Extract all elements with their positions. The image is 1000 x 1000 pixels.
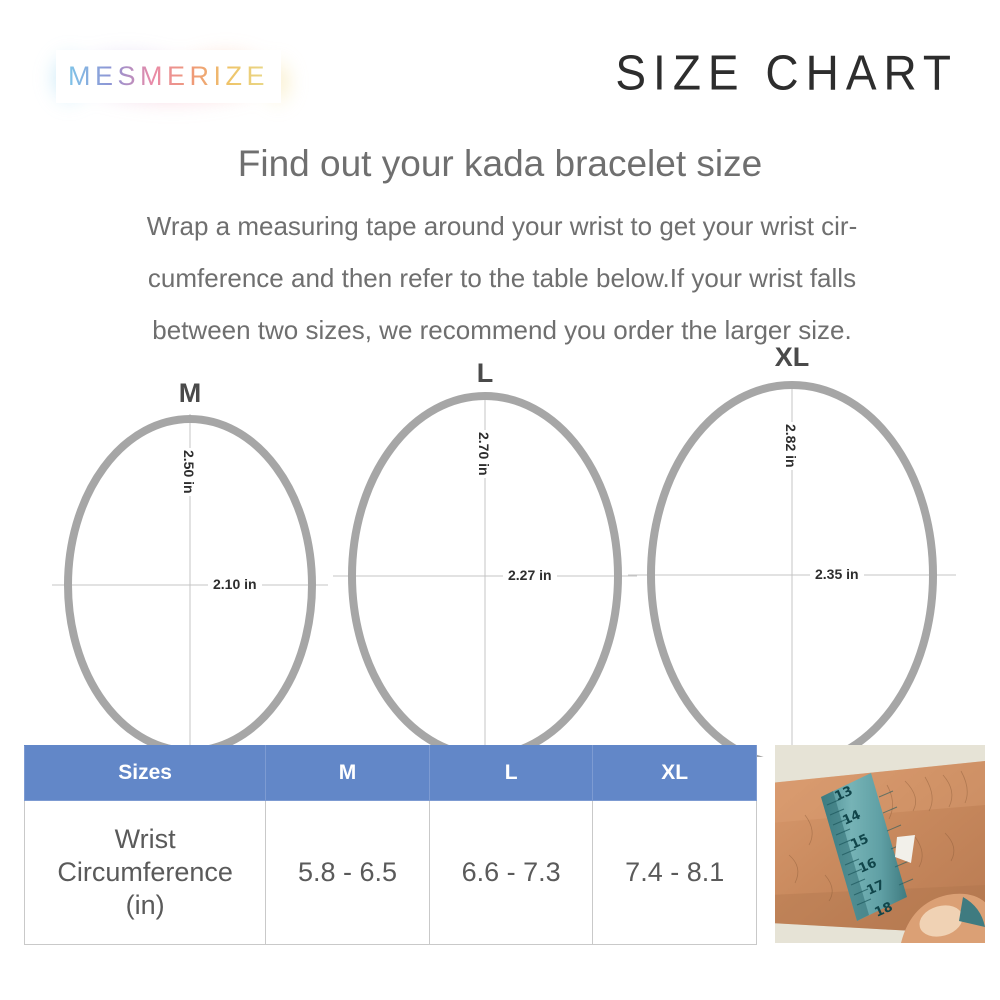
wrist-measurement-photo: 13 14 15 16 17 18 <box>775 745 985 943</box>
header-xl: XL <box>593 746 757 801</box>
diagram-m-height: 2.50 in <box>181 448 197 496</box>
diagram-m-width: 2.10 in <box>208 576 262 592</box>
diagram-l: L 2.70 in 2.27 in <box>325 358 645 753</box>
wrist-photo-illustration: 13 14 15 16 17 18 <box>775 745 985 943</box>
row-label-line-3: (in) <box>25 889 265 922</box>
logo-text: MESMERIZE <box>68 61 269 92</box>
size-table-body: Wrist Circumference (in) 5.8 - 6.5 6.6 -… <box>25 801 757 945</box>
diagram-l-width: 2.27 in <box>503 567 557 583</box>
logo-box: MESMERIZE <box>56 50 281 103</box>
intro-line-2: cumference and then refer to the table b… <box>50 252 954 304</box>
page-title: SIZE CHART <box>615 44 958 101</box>
section-headline: Find out your kada bracelet size <box>0 143 1000 185</box>
diagram-xl-width: 2.35 in <box>810 566 864 582</box>
cell-xl-value: 7.4 - 8.1 <box>593 801 757 945</box>
table-header-row: Sizes M L XL <box>25 746 757 801</box>
row-label-line-1: Wrist <box>25 823 265 856</box>
diagram-xl-height: 2.82 in <box>783 422 799 470</box>
oval-l-shape <box>325 358 645 753</box>
cell-l-value: 6.6 - 7.3 <box>429 801 593 945</box>
size-chart-page: MESMERIZE SIZE CHART Find out your kada … <box>0 0 1000 1000</box>
size-table-header: Sizes M L XL <box>25 746 757 801</box>
intro-paragraph: Wrap a measuring tape around your wrist … <box>50 200 954 356</box>
brand-logo: MESMERIZE <box>46 42 291 114</box>
diagram-l-height: 2.70 in <box>476 430 492 478</box>
diagram-m: M 2.50 in 2.10 in <box>40 378 340 748</box>
header-m: M <box>266 746 430 801</box>
intro-line-1: Wrap a measuring tape around your wrist … <box>50 200 954 252</box>
header-sizes: Sizes <box>25 746 266 801</box>
bracelet-diagrams: M 2.50 in 2.10 in L 2.70 in 2.27 in XL <box>0 350 1000 750</box>
row-label-wrist-circumference: Wrist Circumference (in) <box>25 801 266 945</box>
size-table: Sizes M L XL Wrist Circumference (in) 5.… <box>24 745 757 945</box>
oval-m-shape <box>40 378 340 748</box>
diagram-xl: XL 2.82 in 2.35 in <box>622 342 962 757</box>
table-row: Wrist Circumference (in) 5.8 - 6.5 6.6 -… <box>25 801 757 945</box>
header-l: L <box>429 746 593 801</box>
cell-m-value: 5.8 - 6.5 <box>266 801 430 945</box>
oval-xl-shape <box>622 342 962 757</box>
row-label-line-2: Circumference <box>25 856 265 889</box>
